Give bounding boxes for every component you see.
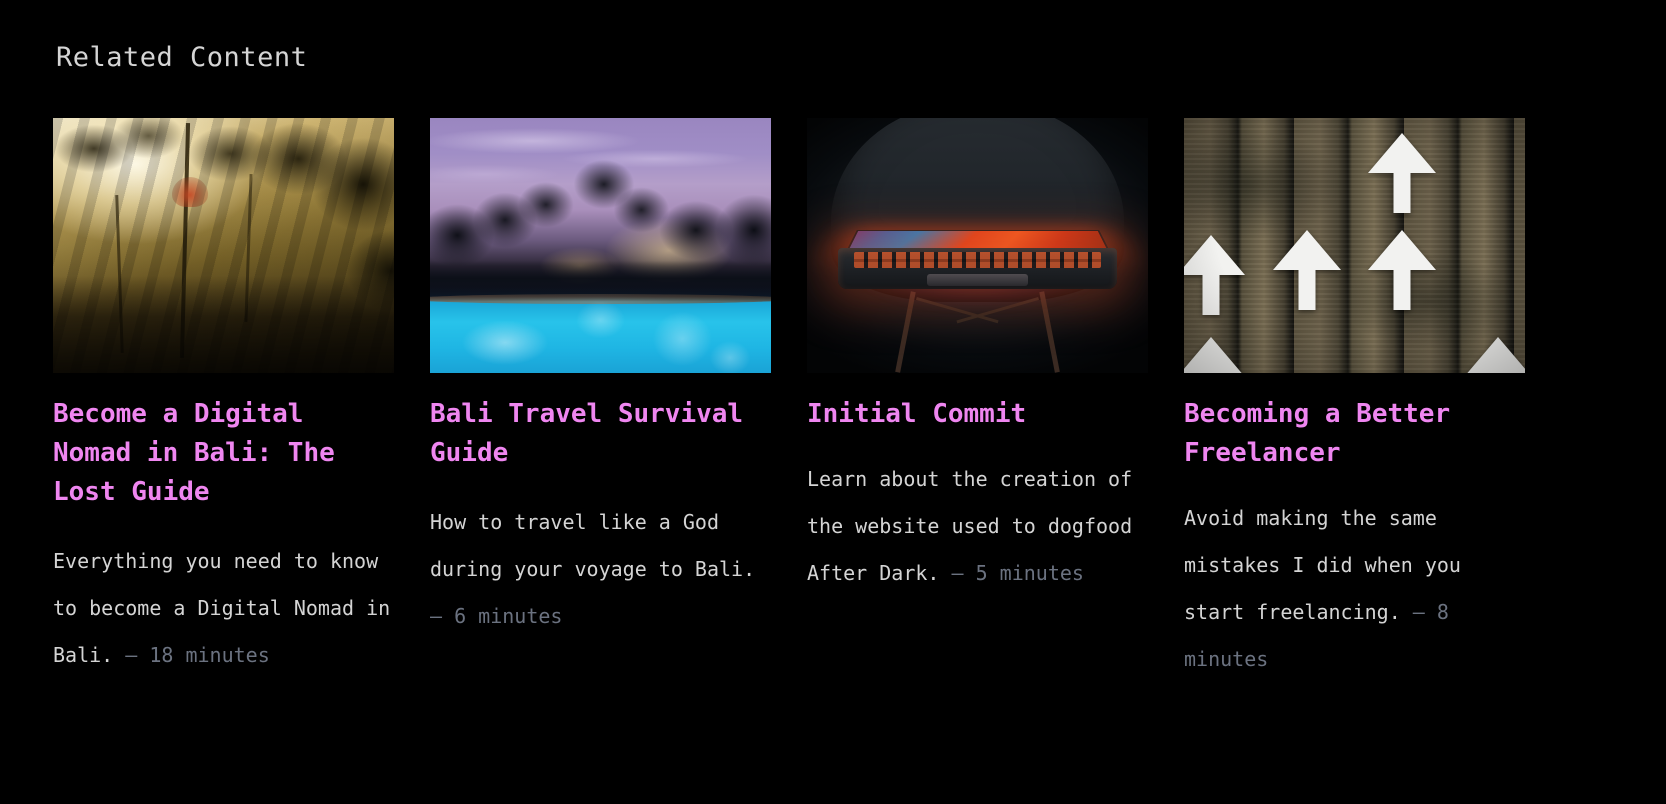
card-body: Bali Travel Survival Guide How to travel… <box>430 373 771 640</box>
card-duration: – 5 minutes <box>952 561 1084 585</box>
card-body: Become a Digital Nomad in Bali: The Lost… <box>53 373 394 679</box>
red-foliage-decor <box>172 177 208 207</box>
laptop-base-decor <box>838 248 1118 289</box>
card-body: Becoming a Better Freelancer Avoid makin… <box>1184 373 1525 683</box>
card-description-text: How to travel like a God during your voy… <box>430 510 755 581</box>
card-description: Everything you need to know to become a … <box>53 538 394 679</box>
card-description: Avoid making the same mistakes I did whe… <box>1184 495 1525 683</box>
card-duration: – 6 minutes <box>430 604 562 628</box>
laptop-trackpad-decor <box>927 274 1028 285</box>
card-body: Initial Commit Learn about the creation … <box>807 373 1148 597</box>
card-description: How to travel like a God during your voy… <box>430 499 771 640</box>
pool-reflection-decor <box>430 297 771 374</box>
card-title[interactable]: Becoming a Better Freelancer <box>1184 395 1525 473</box>
related-content-grid: Become a Digital Nomad in Bali: The Lost… <box>53 118 1613 683</box>
card-title[interactable]: Become a Digital Nomad in Bali: The Lost… <box>53 395 394 512</box>
related-content-card[interactable]: Bali Travel Survival Guide How to travel… <box>430 118 771 683</box>
related-content-page: Related Content Become a Digital Nomad i… <box>0 0 1666 804</box>
card-title[interactable]: Initial Commit <box>807 395 1148 434</box>
pool-edge-decor <box>430 294 771 304</box>
card-thumbnail[interactable] <box>430 118 771 373</box>
palm-trunk-decor <box>180 123 190 358</box>
card-duration: – 18 minutes <box>125 643 270 667</box>
card-title[interactable]: Bali Travel Survival Guide <box>430 395 771 473</box>
palm-trunk-decor <box>245 174 253 322</box>
arrows-on-wood-image <box>1184 118 1525 373</box>
card-thumbnail[interactable] <box>1184 118 1525 373</box>
laptop-on-chair-image <box>807 118 1148 373</box>
palm-trunk-decor <box>115 194 124 352</box>
related-content-card[interactable]: Initial Commit Learn about the creation … <box>807 118 1148 683</box>
rice-terrace-image <box>53 118 394 373</box>
related-content-card[interactable]: Become a Digital Nomad in Bali: The Lost… <box>53 118 394 683</box>
related-content-card[interactable]: Becoming a Better Freelancer Avoid makin… <box>1184 118 1525 683</box>
card-description: Learn about the creation of the website … <box>807 456 1148 597</box>
page-title: Related Content <box>56 38 307 78</box>
card-thumbnail[interactable] <box>53 118 394 373</box>
card-thumbnail[interactable] <box>807 118 1148 373</box>
resort-pool-image <box>430 118 771 373</box>
laptop-keyboard-decor <box>854 252 1100 268</box>
